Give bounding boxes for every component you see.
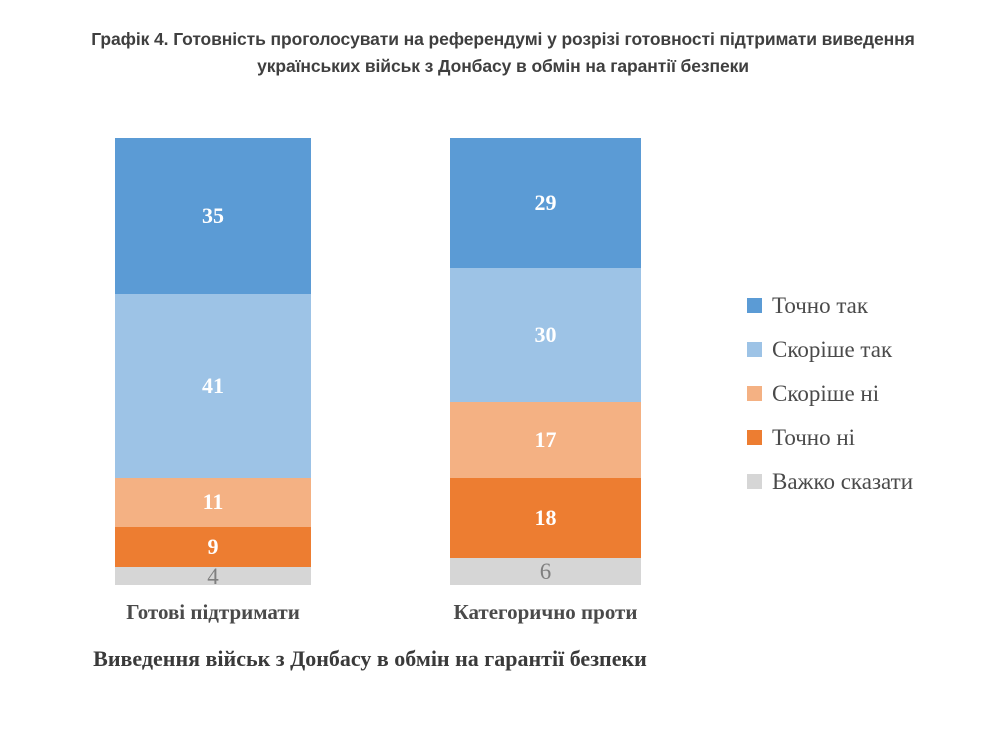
legend-label: Важко сказати xyxy=(772,470,913,493)
plot-area: 35411194 Готові підтримати 293017186 Кат… xyxy=(0,0,735,737)
legend-item[interactable]: Точно ні xyxy=(747,415,987,459)
legend-swatch-icon xyxy=(747,430,762,445)
bar-group-gotovi-pidtrymaty: 35411194 Готові підтримати xyxy=(115,0,311,737)
bar-segment[interactable]: 29 xyxy=(450,138,641,268)
legend-label: Точно так xyxy=(772,294,868,317)
bar-segment[interactable]: 41 xyxy=(115,294,311,477)
bar-segment[interactable]: 4 xyxy=(115,567,311,585)
bar-segment[interactable]: 9 xyxy=(115,527,311,567)
legend-item[interactable]: Важко сказати xyxy=(747,459,987,503)
bar-segment[interactable]: 30 xyxy=(450,268,641,402)
legend-swatch-icon xyxy=(747,386,762,401)
bar-segment[interactable]: 11 xyxy=(115,478,311,527)
legend-label: Скоріше так xyxy=(772,338,892,361)
bar-segment[interactable]: 35 xyxy=(115,138,311,294)
bar-segment-value: 29 xyxy=(535,192,557,214)
category-label-1: Категорично проти xyxy=(450,600,641,625)
legend-item[interactable]: Скоріше так xyxy=(747,327,987,371)
bar-group-katehorychno-proty: 293017186 Категорично проти xyxy=(450,0,641,737)
bar-segment-value: 41 xyxy=(202,375,224,397)
legend-item[interactable]: Скоріше ні xyxy=(747,371,987,415)
bar-segment-value: 11 xyxy=(203,491,224,513)
legend-swatch-icon xyxy=(747,298,762,313)
legend-label: Скоріше ні xyxy=(772,382,879,405)
bar-segment-value: 6 xyxy=(540,560,552,583)
bar-segment-value: 35 xyxy=(202,205,224,227)
stacked-column: 35411194 xyxy=(115,138,311,585)
bar-segment-value: 9 xyxy=(208,536,219,558)
bar-segment-value: 4 xyxy=(207,565,219,588)
legend-swatch-icon xyxy=(747,474,762,489)
chart-legend: Точно такСкоріше такСкоріше ніТочно ніВа… xyxy=(747,283,987,503)
stacked-column: 293017186 xyxy=(450,138,641,585)
legend-item[interactable]: Точно так xyxy=(747,283,987,327)
x-axis-title: Виведення військ з Донбасу в обмін на га… xyxy=(60,643,680,674)
bar-segment-value: 18 xyxy=(535,507,557,529)
legend-swatch-icon xyxy=(747,342,762,357)
category-label-0: Готові підтримати xyxy=(115,600,311,625)
bar-segment-value: 30 xyxy=(535,324,557,346)
bar-segment-value: 17 xyxy=(535,429,557,451)
bar-segment[interactable]: 18 xyxy=(450,478,641,558)
bar-segment[interactable]: 17 xyxy=(450,402,641,478)
bar-segment[interactable]: 6 xyxy=(450,558,641,585)
legend-label: Точно ні xyxy=(772,426,855,449)
